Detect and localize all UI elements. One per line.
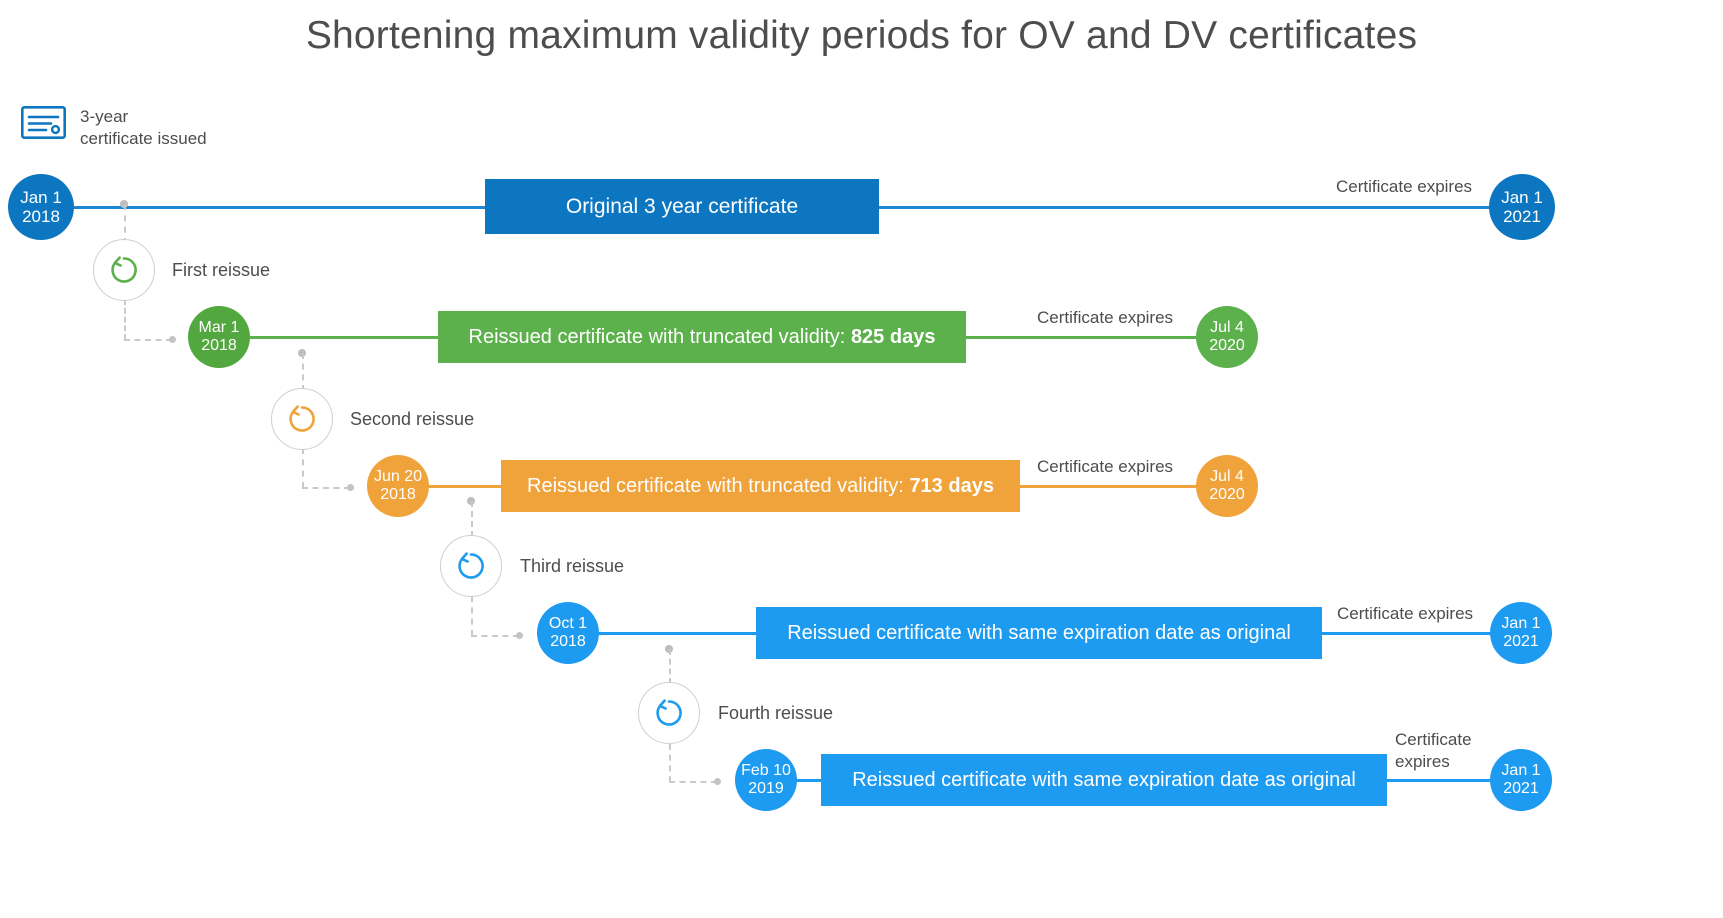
start-node-line2: 2019: [748, 780, 784, 798]
connector-horizontal: [471, 635, 519, 637]
start-node-line2: 2018: [201, 337, 237, 355]
connector-horizontal: [302, 487, 350, 489]
certificate-bar-days: 825 days: [851, 326, 936, 348]
connector-vertical: [669, 744, 671, 782]
end-node-line1: Jan 1: [1501, 762, 1540, 780]
start-node-line1: Oct 1: [549, 615, 587, 633]
end-node-line1: Jan 1: [1501, 188, 1543, 207]
reissue-icon-third[interactable]: [440, 535, 502, 597]
start-node[interactable]: Mar 1 2018: [188, 306, 250, 368]
connector-vertical: [124, 204, 126, 244]
end-node-line1: Jul 4: [1210, 468, 1244, 486]
start-node-line2: 2018: [22, 207, 60, 226]
refresh-icon: [454, 549, 488, 583]
start-node-line2: 2018: [550, 633, 586, 651]
start-node[interactable]: Feb 10 2019: [735, 749, 797, 811]
certificate-bar-label: Reissued certificate with truncated vali…: [527, 475, 994, 498]
end-node-line2: 2020: [1209, 486, 1245, 504]
start-node-line1: Feb 10: [741, 762, 791, 780]
start-node-line1: Mar 1: [199, 319, 240, 337]
certificate-bar[interactable]: Original 3 year certificate: [485, 179, 879, 234]
end-node-line2: 2021: [1503, 207, 1541, 226]
refresh-icon: [107, 253, 141, 287]
connector-horizontal: [124, 339, 172, 341]
start-node[interactable]: Jan 1 2018: [8, 174, 74, 240]
end-node-line2: 2021: [1503, 633, 1539, 651]
expires-label: Certificate expires: [1037, 456, 1173, 478]
start-node-line2: 2018: [380, 486, 416, 504]
certificate-icon: [21, 106, 66, 139]
certificate-bar-label: Original 3 year certificate: [566, 195, 798, 219]
expires-label: Certificate expires: [1337, 603, 1473, 625]
end-node[interactable]: Jul 4 2020: [1196, 455, 1258, 517]
certificate-bar-label: Reissued certificate with same expiratio…: [787, 622, 1291, 645]
expires-label: Certificate expires: [1037, 307, 1173, 329]
connector-vertical: [669, 649, 671, 684]
certificate-bar[interactable]: Reissued certificate with same expiratio…: [821, 754, 1387, 806]
connector-dot: [516, 632, 523, 639]
start-node-line1: Jun 20: [374, 468, 422, 486]
certificate-bar[interactable]: Reissued certificate with same expiratio…: [756, 607, 1322, 659]
connector-vertical: [471, 596, 473, 636]
end-node[interactable]: Jul 4 2020: [1196, 306, 1258, 368]
reissue-label-third: Third reissue: [520, 556, 624, 577]
certificate-bar[interactable]: Reissued certificate with truncated vali…: [501, 460, 1020, 512]
reissue-icon-first[interactable]: [93, 239, 155, 301]
reissue-label-fourth: Fourth reissue: [718, 703, 833, 724]
certificate-bar[interactable]: Reissued certificate with truncated vali…: [438, 311, 966, 363]
diagram-canvas: Shortening maximum validity periods for …: [0, 0, 1723, 918]
start-node[interactable]: Oct 1 2018: [537, 602, 599, 664]
start-node-line1: Jan 1: [20, 188, 62, 207]
connector-dot: [169, 336, 176, 343]
certificate-bar-days: 713 days: [909, 475, 994, 497]
reissue-icon-second[interactable]: [271, 388, 333, 450]
page-title: Shortening maximum validity periods for …: [0, 14, 1723, 58]
connector-dot: [347, 484, 354, 491]
certificate-bar-label: Reissued certificate with same expiratio…: [852, 769, 1356, 792]
end-node-line2: 2021: [1503, 780, 1539, 798]
end-node[interactable]: Jan 1 2021: [1490, 602, 1552, 664]
connector-vertical: [302, 353, 304, 391]
start-node[interactable]: Jun 20 2018: [367, 455, 429, 517]
reissue-icon-fourth[interactable]: [638, 682, 700, 744]
expires-label: Certificate expires: [1336, 176, 1472, 198]
connector-vertical: [302, 448, 304, 488]
refresh-icon: [285, 402, 319, 436]
end-node-line1: Jan 1: [1501, 615, 1540, 633]
connector-vertical: [124, 299, 126, 340]
end-node[interactable]: Jan 1 2021: [1489, 174, 1555, 240]
end-node[interactable]: Jan 1 2021: [1490, 749, 1552, 811]
reissue-label-first: First reissue: [172, 260, 270, 281]
expires-label: Certificate expires: [1395, 729, 1472, 773]
certificate-bar-label: Reissued certificate with truncated vali…: [469, 326, 936, 349]
end-node-line2: 2020: [1209, 337, 1245, 355]
connector-vertical: [471, 501, 473, 537]
reissue-label-second: Second reissue: [350, 409, 474, 430]
end-node-line1: Jul 4: [1210, 319, 1244, 337]
connector-horizontal: [669, 781, 717, 783]
connector-dot: [714, 778, 721, 785]
legend-label: 3-year certificate issued: [80, 106, 340, 150]
refresh-icon: [652, 696, 686, 730]
